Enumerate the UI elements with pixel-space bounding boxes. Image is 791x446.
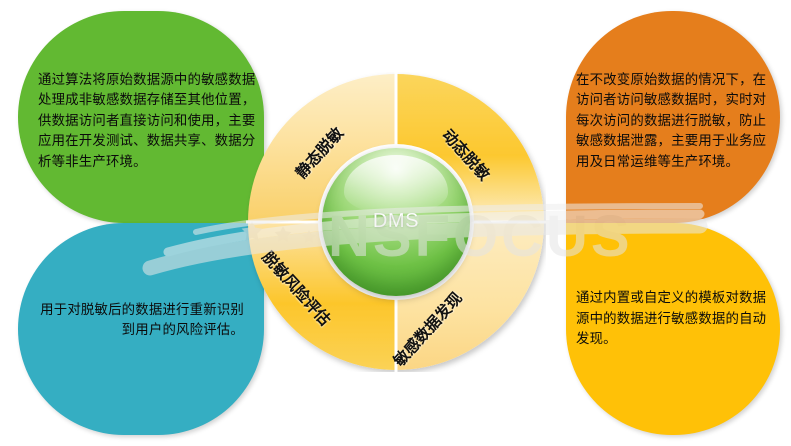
callout-dynamic-masking[interactable]: 在不改变原始数据的情况下，在访问者访问敏感数据时，实时对每次访问的数据进行脱敏，…: [566, 11, 780, 223]
callout-static-masking[interactable]: 通过算法将原始数据源中的敏感数据处理成非敏感数据存储至其他位置，供数据访问者直接…: [18, 11, 264, 223]
callout-masking-risk-assessment-text: 用于对脱敏后的数据进行重新识别到用户的风险评估。: [18, 300, 264, 341]
center-sphere-label: DMS: [322, 210, 470, 233]
callout-dynamic-masking-text: 在不改变原始数据的情况下，在访问者访问敏感数据时，实时对每次访问的数据进行脱敏，…: [566, 70, 780, 172]
center-sphere[interactable]: DMS: [322, 148, 470, 296]
callout-masking-risk-assessment[interactable]: 用于对脱敏后的数据进行重新识别到用户的风险评估。: [18, 223, 264, 435]
callout-sensitive-data-discovery[interactable]: 通过内置或自定义的模板对数据源中的数据进行敏感数据的自动发现。: [566, 223, 780, 435]
diagram-canvas: 通过算法将原始数据源中的敏感数据处理成非敏感数据存储至其他位置，供数据访问者直接…: [0, 0, 791, 446]
callout-static-masking-text: 通过算法将原始数据源中的敏感数据处理成非敏感数据存储至其他位置，供数据访问者直接…: [18, 70, 264, 172]
callout-sensitive-data-discovery-text: 通过内置或自定义的模板对数据源中的数据进行敏感数据的自动发现。: [566, 288, 780, 349]
